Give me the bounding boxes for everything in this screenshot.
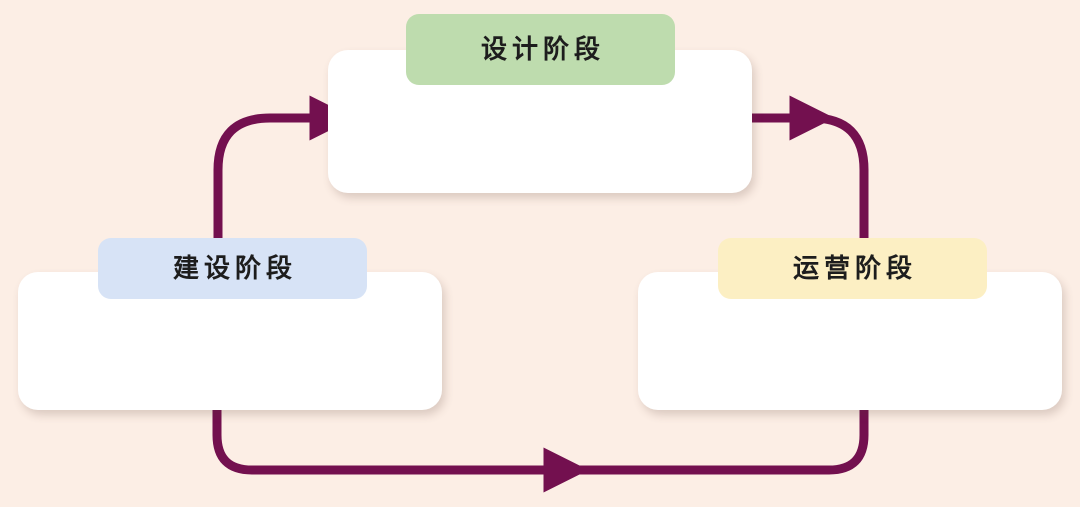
diagram-canvas: 设计阶段 绿色道路网络优化和能源布局设计 建设阶段 低碳材料、工艺与设备 运营阶… bbox=[0, 0, 1080, 507]
stage-title-construction: 建设阶段 bbox=[168, 256, 297, 282]
stage-title-operation: 运营阶段 bbox=[788, 256, 917, 282]
stage-badge-construction: 建设阶段 bbox=[98, 238, 367, 299]
stage-title-design: 设计阶段 bbox=[476, 37, 605, 63]
stage-badge-design: 设计阶段 bbox=[406, 14, 675, 85]
stage-badge-operation: 运营阶段 bbox=[718, 238, 987, 299]
